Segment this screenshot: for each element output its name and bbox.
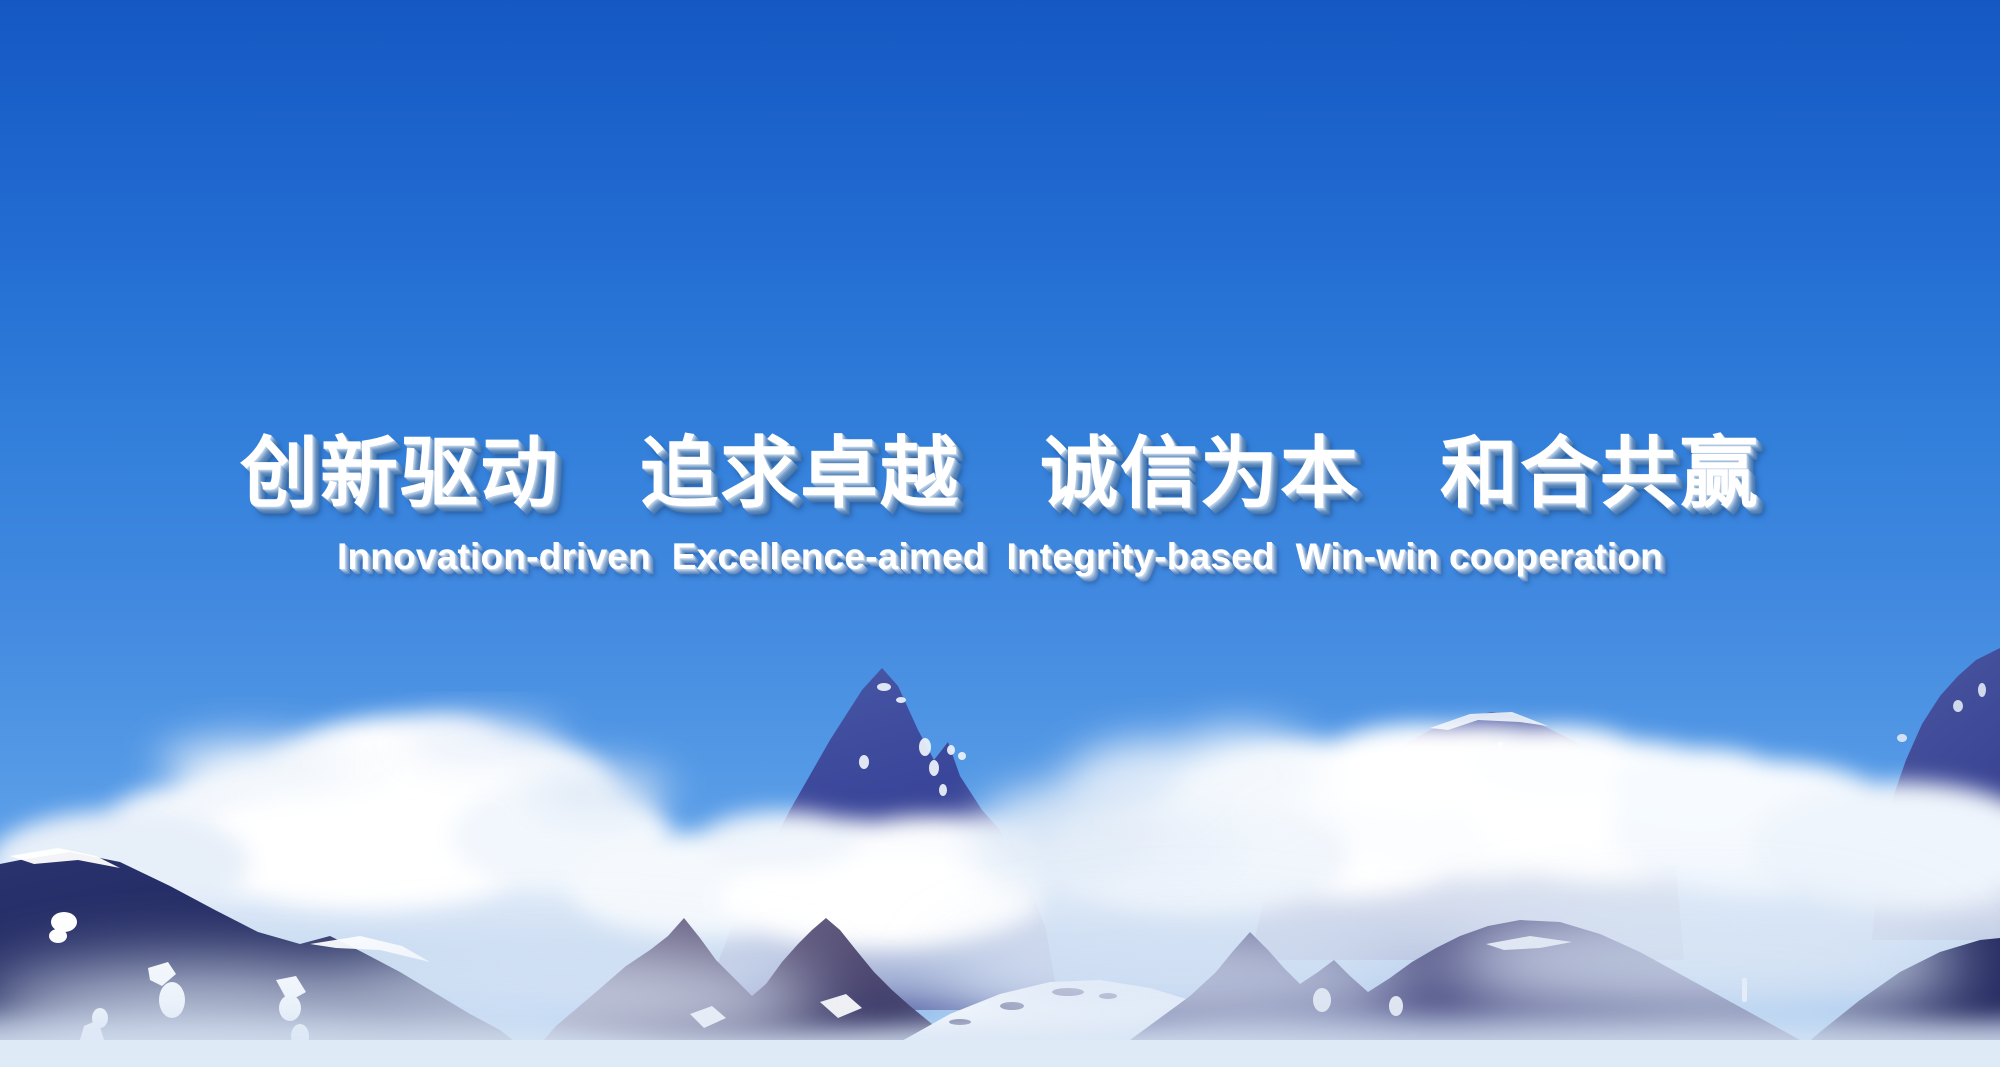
slogan-banner: 创新驱动 追求卓越 诚信为本 和合共赢 Innovation-driven Ex… bbox=[0, 0, 2000, 1067]
slogan-text-block: 创新驱动 追求卓越 诚信为本 和合共赢 Innovation-driven Ex… bbox=[0, 432, 2000, 578]
mist-bottom-solid bbox=[0, 1040, 2000, 1067]
slogan-chinese: 创新驱动 追求卓越 诚信为本 和合共赢 bbox=[0, 432, 2000, 516]
slogan-english: Innovation-driven Excellence-aimed Integ… bbox=[0, 536, 2000, 578]
mountain-cloud-scenery bbox=[0, 0, 2000, 1067]
